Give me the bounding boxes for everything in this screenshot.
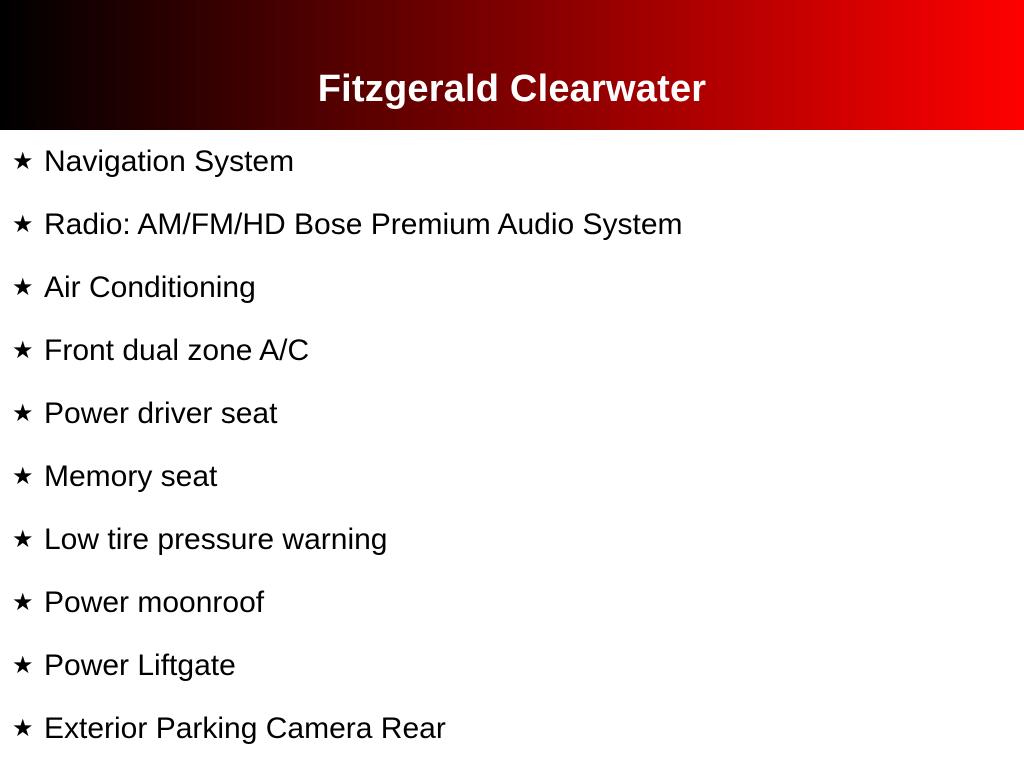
list-item: ★ Radio: AM/FM/HD Bose Premium Audio Sys… bbox=[0, 193, 1024, 256]
star-bullet-icon: ★ bbox=[12, 276, 44, 300]
list-item: ★ Power Liftgate bbox=[0, 634, 1024, 697]
list-item: ★ Navigation System bbox=[0, 130, 1024, 193]
list-item-label: Power moonroof bbox=[44, 586, 264, 620]
list-item-label: Low tire pressure warning bbox=[44, 523, 388, 557]
list-item-label: Power Liftgate bbox=[44, 649, 236, 683]
star-bullet-icon: ★ bbox=[12, 591, 44, 615]
list-item: ★ Front dual zone A/C bbox=[0, 319, 1024, 382]
list-item-label: Front dual zone A/C bbox=[44, 334, 309, 368]
list-item: ★ Power driver seat bbox=[0, 382, 1024, 445]
star-bullet-icon: ★ bbox=[12, 654, 44, 678]
list-item-label: Exterior Parking Camera Rear bbox=[44, 712, 446, 746]
star-bullet-icon: ★ bbox=[12, 339, 44, 363]
star-bullet-icon: ★ bbox=[12, 150, 44, 174]
list-item-label: Power driver seat bbox=[44, 397, 277, 431]
list-item: ★ Air Conditioning bbox=[0, 256, 1024, 319]
star-bullet-icon: ★ bbox=[12, 402, 44, 426]
list-item: ★ Memory seat bbox=[0, 445, 1024, 508]
list-item-label: Radio: AM/FM/HD Bose Premium Audio Syste… bbox=[44, 208, 683, 242]
list-item: ★ Power moonroof bbox=[0, 571, 1024, 634]
list-item-label: Navigation System bbox=[44, 145, 294, 179]
list-item-label: Air Conditioning bbox=[44, 271, 256, 305]
list-item: ★ Exterior Parking Camera Rear bbox=[0, 697, 1024, 760]
feature-list: ★ Navigation System ★ Radio: AM/FM/HD Bo… bbox=[0, 130, 1024, 768]
star-bullet-icon: ★ bbox=[12, 528, 44, 552]
star-bullet-icon: ★ bbox=[12, 465, 44, 489]
list-item: ★ Low tire pressure warning bbox=[0, 508, 1024, 571]
star-bullet-icon: ★ bbox=[12, 213, 44, 237]
title-banner: Fitzgerald Clearwater bbox=[0, 0, 1024, 130]
star-bullet-icon: ★ bbox=[12, 717, 44, 741]
slide-canvas: Fitzgerald Clearwater ★ Navigation Syste… bbox=[0, 0, 1024, 768]
list-item-label: Memory seat bbox=[44, 460, 217, 494]
